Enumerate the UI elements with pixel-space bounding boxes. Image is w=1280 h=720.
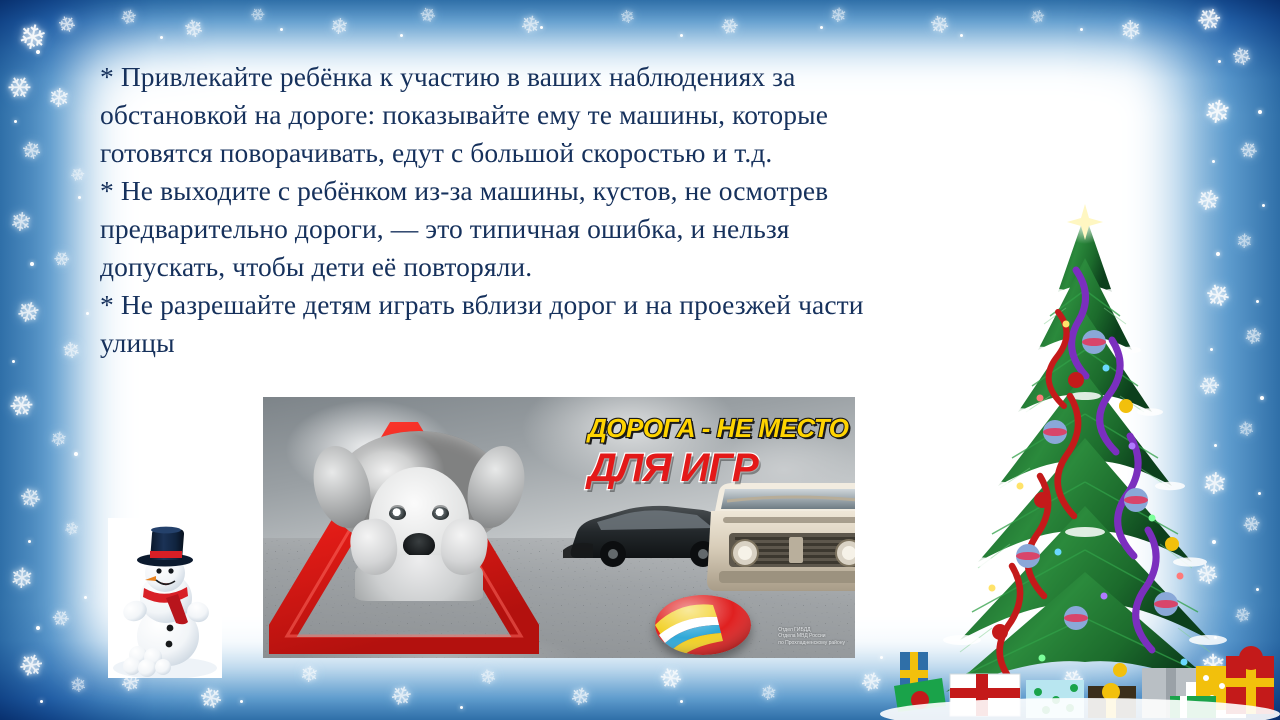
snowman-image — [108, 518, 222, 678]
beige-lada-car — [703, 477, 855, 603]
child-open-mouth — [403, 533, 435, 557]
text-line-2: обстановкой на дороге: показывайте ему т… — [100, 96, 1005, 134]
child-eye-left — [389, 507, 406, 520]
credit-line-3: по Прохладненскому району — [778, 640, 845, 647]
tree-top-star — [1063, 200, 1107, 244]
text-line-6: допускать, чтобы дети её повторяли. — [100, 248, 1005, 286]
poster-headline-line1: ДОРОГА - НЕ МЕСТО — [588, 413, 846, 444]
slide-canvas: ❄❄❄❄❄❄❄❄❄❄❄❄❄❄❄❄❄❄❄❄❄❄❄❄❄❄❄❄❄❄❄❄❄❄❄❄❄❄❄❄… — [0, 0, 1280, 720]
frightened-child-photo — [329, 431, 509, 591]
snowman-top-hat — [137, 527, 193, 567]
poster-headline: ДОРОГА - НЕ МЕСТО ДЛЯ ИГР — [588, 413, 846, 491]
child-eye-right — [432, 507, 449, 520]
text-line-7: * Не разрешайте детям играть вблизи доро… — [100, 286, 1005, 324]
poster-headline-line2: ДЛЯ ИГР — [588, 446, 846, 491]
snowman-figure — [108, 518, 222, 678]
christmas-tree — [880, 200, 1280, 720]
slide-body-text: * Привлекайте ребёнка к участию в ваших … — [100, 58, 1005, 362]
text-line-5: предварительно дороги, — это типичная ош… — [100, 210, 1005, 248]
text-line-8: улицы — [100, 324, 1005, 362]
poster-credit: Отдел ГИБДД Отдела МВД России по Прохлад… — [778, 627, 845, 647]
text-line-3: готовятся поворачивать, едут с большой с… — [100, 134, 1005, 172]
text-line-4: * Не выходите с ребёнком из-за машины, к… — [100, 172, 1005, 210]
christmas-tree-image — [880, 200, 1280, 720]
road-safety-poster: Отдел ГИБДД Отдела МВД России по Прохлад… — [263, 397, 855, 658]
striped-toy-ball — [655, 595, 751, 655]
text-line-1: * Привлекайте ребёнка к участию в ваших … — [100, 58, 1005, 96]
